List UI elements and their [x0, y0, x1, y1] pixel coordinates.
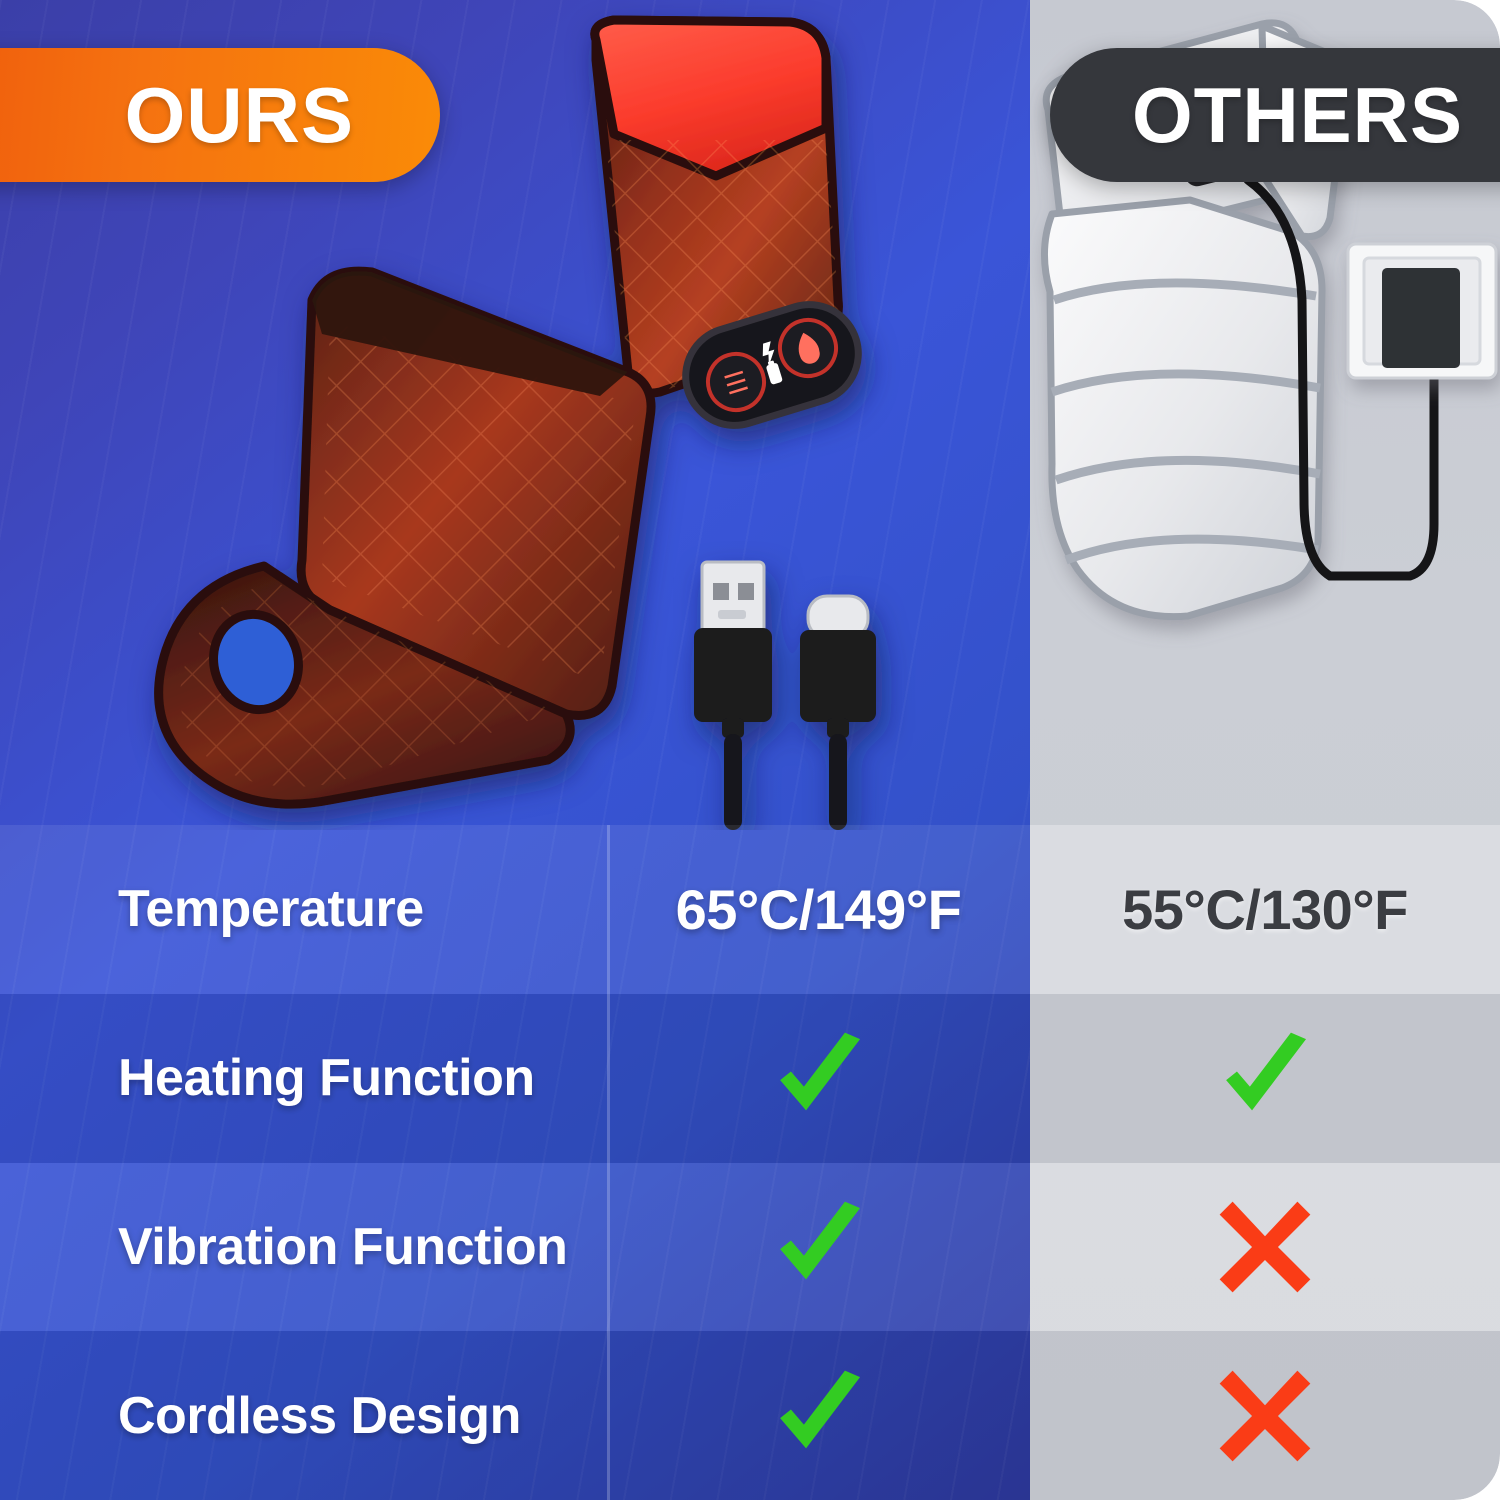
comparison-table: Temperature 65°C/149°F 55°C/130°F Heatin…: [0, 825, 1500, 1500]
power-adapter: [1382, 268, 1460, 368]
ours-value-cell: [607, 1331, 1030, 1500]
usb-c-connector: [800, 596, 876, 830]
cross-icon: [1211, 1193, 1319, 1301]
feature-label: Vibration Function: [118, 1217, 567, 1277]
table-row: Cordless Design: [0, 1331, 1500, 1500]
feature-cell: Cordless Design: [0, 1331, 607, 1500]
check-icon: [765, 1362, 873, 1470]
others-badge-label: OTHERS: [1132, 76, 1463, 154]
others-badge: OTHERS: [1050, 48, 1500, 182]
usb-cable: [694, 562, 876, 830]
ours-value-cell: [607, 994, 1030, 1163]
ours-value-cell: 65°C/149°F: [607, 825, 1030, 994]
others-value-cell: [1030, 1331, 1500, 1500]
feature-label: Temperature: [118, 879, 424, 939]
comparison-infographic: ☰: [0, 0, 1500, 1500]
feature-cell: Heating Function: [0, 994, 607, 1163]
check-icon: [765, 1024, 873, 1132]
feature-label: Cordless Design: [118, 1386, 521, 1446]
others-value: 55°C/130°F: [1122, 877, 1408, 942]
wall-outlet: [1348, 244, 1496, 378]
check-icon: [765, 1193, 873, 1301]
ours-badge: OURS: [0, 48, 440, 182]
ours-value-cell: [607, 1163, 1030, 1332]
others-value-cell: [1030, 994, 1500, 1163]
cross-icon: [1211, 1362, 1319, 1470]
feature-cell: Vibration Function: [0, 1163, 607, 1332]
table-row: Vibration Function: [0, 1163, 1500, 1332]
others-value-cell: 55°C/130°F: [1030, 825, 1500, 994]
table-row: Temperature 65°C/149°F 55°C/130°F: [0, 825, 1500, 994]
others-value-cell: [1030, 1163, 1500, 1332]
ours-badge-label: OURS: [125, 76, 354, 154]
usb-a-connector: [694, 562, 772, 830]
feature-cell: Temperature: [0, 825, 607, 994]
feature-label: Heating Function: [118, 1048, 535, 1108]
ours-value: 65°C/149°F: [676, 877, 962, 942]
check-icon: [1211, 1024, 1319, 1132]
table-row: Heating Function: [0, 994, 1500, 1163]
